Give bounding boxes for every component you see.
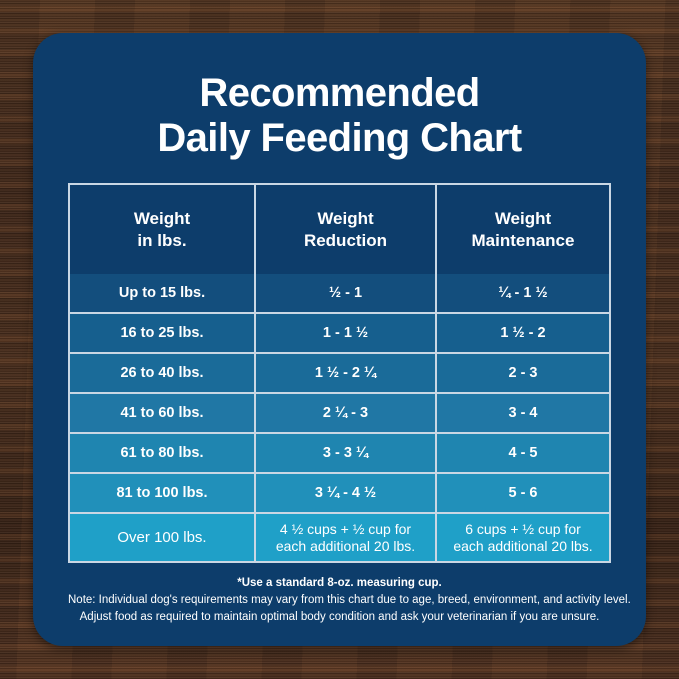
cell-weight-text: Up to 15 lbs. <box>119 285 205 303</box>
cell-weight: Up to 15 lbs. <box>70 274 254 312</box>
table-row: Up to 15 lbs.½ - 1¼ - 1 ½ <box>70 274 609 312</box>
footnote-measuring-cup-note: *Use a standard 8-oz. measuring cup. <box>68 575 611 592</box>
cell-maintenance: 2 - 3 <box>435 354 609 392</box>
footnote-line-2: Adjust food as required to maintain opti… <box>68 609 611 626</box>
cell-maintenance-text: 3 - 4 <box>508 405 537 423</box>
cell-weight: 61 to 80 lbs. <box>70 434 254 472</box>
cell-reduction: ½ - 1 <box>254 274 435 312</box>
table-row: 81 to 100 lbs.3 ¼ - 4 ½5 - 6 <box>70 472 609 512</box>
cell-weight: 81 to 100 lbs. <box>70 474 254 512</box>
footnote: *Use a standard 8-oz. measuring cup. Not… <box>68 575 611 626</box>
cell-reduction: 3 - 3 ¼ <box>254 434 435 472</box>
cell-maintenance-text: 1 ½ - 2 <box>500 325 545 343</box>
cell-reduction: 4 ½ cups + ½ cup foreach additional 20 l… <box>254 514 435 561</box>
column-header-maintenance: Weight Maintenance <box>435 185 609 274</box>
table-row: 26 to 40 lbs.1 ½ - 2 ¼2 - 3 <box>70 352 609 392</box>
column-header-reduction-line2: Reduction <box>304 230 387 252</box>
table-header-row: Weight in lbs. Weight Reduction Weight M… <box>70 185 609 274</box>
cell-reduction-text: 3 - 3 ¼ <box>323 445 368 463</box>
cell-reduction: 2 ¼ - 3 <box>254 394 435 432</box>
cell-weight: Over 100 lbs. <box>70 514 254 561</box>
footnote-line-1: Note: Individual dog's requirements may … <box>68 592 611 609</box>
cell-reduction: 1 ½ - 2 ¼ <box>254 354 435 392</box>
title-line-1: Recommended <box>157 71 521 116</box>
cell-maintenance: 6 cups + ½ cup foreach additional 20 lbs… <box>435 514 609 561</box>
column-header-reduction-line1: Weight <box>304 208 387 230</box>
cell-maintenance-text: 5 - 6 <box>508 485 537 503</box>
cell-weight: 16 to 25 lbs. <box>70 314 254 352</box>
cell-reduction-text: 3 ¼ - 4 ½ <box>315 485 376 503</box>
column-header-maintenance-line1: Weight <box>472 208 575 230</box>
cell-maintenance: ¼ - 1 ½ <box>435 274 609 312</box>
cell-reduction-text: 1 ½ - 2 ¼ <box>315 365 376 383</box>
feeding-chart-table: Weight in lbs. Weight Reduction Weight M… <box>68 183 611 563</box>
cell-weight-text: 16 to 25 lbs. <box>120 325 203 343</box>
cell-reduction-text: each additional 20 lbs. <box>276 538 415 555</box>
cell-reduction: 1 - 1 ½ <box>254 314 435 352</box>
column-header-reduction: Weight Reduction <box>254 185 435 274</box>
cell-reduction-text: 1 - 1 ½ <box>323 325 368 343</box>
cell-weight: 26 to 40 lbs. <box>70 354 254 392</box>
cell-weight-text: Over 100 lbs. <box>117 529 206 547</box>
column-header-weight: Weight in lbs. <box>70 185 254 274</box>
cell-maintenance-text: 2 - 3 <box>508 365 537 383</box>
cell-weight-text: 61 to 80 lbs. <box>120 445 203 463</box>
column-header-weight-line2: in lbs. <box>134 230 190 252</box>
cell-reduction-text: 4 ½ cups + ½ cup for <box>276 521 415 538</box>
cell-maintenance: 5 - 6 <box>435 474 609 512</box>
cell-reduction: 3 ¼ - 4 ½ <box>254 474 435 512</box>
feeding-chart-card: Recommended Daily Feeding Chart Weight i… <box>33 33 646 646</box>
page-title: Recommended Daily Feeding Chart <box>157 71 521 161</box>
cell-maintenance-text: each additional 20 lbs. <box>453 538 592 555</box>
table-row: 61 to 80 lbs.3 - 3 ¼4 - 5 <box>70 432 609 472</box>
column-header-weight-line1: Weight <box>134 208 190 230</box>
cell-maintenance-text: 6 cups + ½ cup for <box>453 521 592 538</box>
cell-maintenance-text: 4 - 5 <box>508 445 537 463</box>
cell-weight-text: 26 to 40 lbs. <box>120 365 203 383</box>
cell-weight: 41 to 60 lbs. <box>70 394 254 432</box>
cell-weight-text: 41 to 60 lbs. <box>120 405 203 423</box>
table-row: Over 100 lbs.4 ½ cups + ½ cup foreach ad… <box>70 512 609 561</box>
cell-maintenance: 3 - 4 <box>435 394 609 432</box>
cell-maintenance: 4 - 5 <box>435 434 609 472</box>
cell-reduction-text: 2 ¼ - 3 <box>323 405 368 423</box>
title-line-2: Daily Feeding Chart <box>157 116 521 161</box>
cell-maintenance: 1 ½ - 2 <box>435 314 609 352</box>
cell-maintenance-text: ¼ - 1 ½ <box>498 285 547 303</box>
cell-weight-text: 81 to 100 lbs. <box>116 485 207 503</box>
cell-reduction-text: ½ - 1 <box>329 285 362 303</box>
column-header-maintenance-line2: Maintenance <box>472 230 575 252</box>
table-row: 16 to 25 lbs.1 - 1 ½1 ½ - 2 <box>70 312 609 352</box>
table-row: 41 to 60 lbs.2 ¼ - 33 - 4 <box>70 392 609 432</box>
